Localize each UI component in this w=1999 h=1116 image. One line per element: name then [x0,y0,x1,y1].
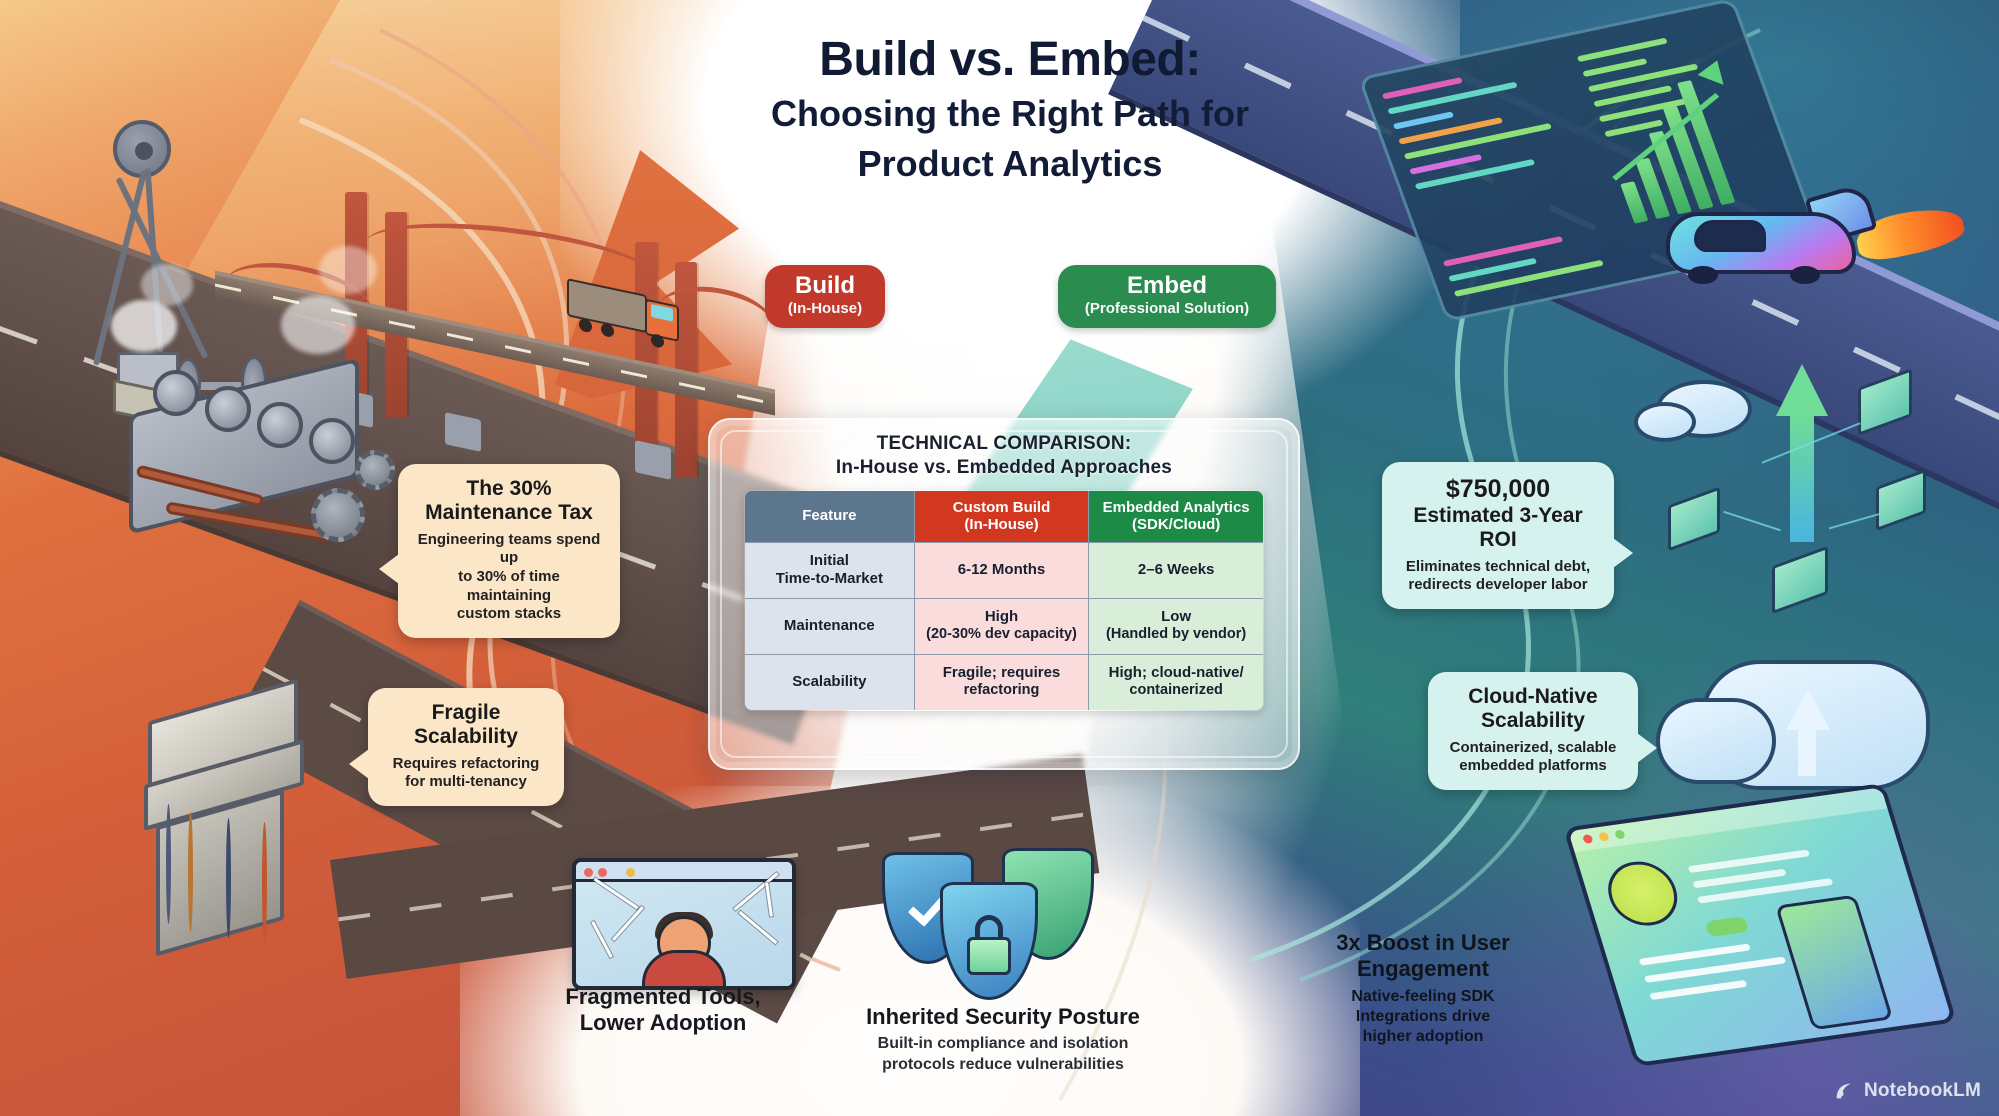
smoke-puff [319,246,377,294]
callout-maintenance-title-1: The 30% [414,477,604,501]
watermark: NotebookLM [1833,1080,1981,1102]
col-header-embedded-main: Embedded Analytics [1095,499,1257,516]
comparison-panel-title: TECHNICAL COMPARISON: In-House vs. Embed… [732,432,1276,480]
callout-cloud-body-1: Containerized, scalable [1444,739,1622,758]
security-shields-illustration [880,848,1110,998]
bridge-pier [445,412,481,452]
table-row: Scalability Fragile; requires refactorin… [745,654,1264,710]
badge-embed-label: Embed [1080,273,1254,299]
callout-roi-amount: $750,000 [1398,475,1598,504]
fragmented-title-2: Lower Adoption [528,1010,798,1036]
embed-value-sub: containerized [1095,682,1257,699]
badge-build[interactable]: Build (In-House) [765,265,885,328]
minimize-icon [598,868,607,877]
engagement-title-2: Engagement [1288,956,1558,982]
cable [188,812,193,932]
security-body-1: Built-in compliance and isolation [828,1034,1178,1054]
callout-cloud-title-2: Scalability [1444,709,1622,733]
car-wheel [1688,266,1718,284]
callout-roi-body-2: redirects developer labor [1398,576,1598,595]
trend-arrow-icon [1698,55,1731,84]
comparison-title-line-1: TECHNICAL COMPARISON: [732,432,1276,456]
callout-tail [1613,538,1633,568]
table-head: Feature Custom Build (In-House) Embedded… [745,490,1264,542]
callout-fragile-title-1: Fragile [384,701,548,725]
smoke-puff [141,264,193,306]
cloud-network-illustration [1630,370,1990,680]
cracked-server-rack-illustration [130,700,370,950]
feature-line-1: Initial [751,552,908,570]
callout-roi: $750,000 Estimated 3-Year ROI Eliminates… [1382,462,1614,609]
table-body: Initial Time-to-Market 6-12 Months 2–6 W… [745,542,1264,710]
badge-embed-sublabel: (Professional Solution) [1080,300,1254,318]
callout-cloud-body-2: embedded platforms [1444,757,1622,776]
infographic-canvas: Build vs. Embed: Choosing the Right Path… [0,0,1999,1116]
callout-fragile-title-2: Scalability [384,725,548,749]
engine-cylinder [205,386,251,432]
callout-fragile-scalability: Fragile Scalability Requires refactoring… [368,688,564,806]
build-value-sub: (20-30% dev capacity) [921,626,1083,643]
callout-fragile-body-2: for multi-tenancy [384,773,548,792]
fragmented-title-1: Fragmented Tools, [528,984,798,1010]
col-header-custom-build: Custom Build (In-House) [914,490,1089,542]
callout-maintenance-body-3: custom stacks [414,605,604,624]
callout-fragile-body-1: Requires refactoring [384,755,548,774]
arrow-stem [1790,414,1814,542]
cable [166,804,171,924]
col-header-feature: Feature [745,490,915,542]
callout-maintenance-tax: The 30% Maintenance Tax Engineering team… [398,464,620,638]
build-value-main: High [921,608,1083,626]
server-node-icon [1876,469,1926,531]
embed-value-main: High; cloud-native/ [1095,664,1257,682]
col-header-embedded-sub: (SDK/Cloud) [1095,516,1257,533]
cell-embed-maintenance: Low (Handled by vendor) [1089,598,1264,654]
cell-feature-time-to-market: Initial Time-to-Market [745,542,915,598]
smoke-puff [281,296,355,354]
embed-value-main: 2–6 Weeks [1095,561,1257,579]
cell-embed-scalability: High; cloud-native/ containerized [1089,654,1264,710]
network-link [1723,511,1781,531]
notebooklm-logo-icon [1833,1080,1855,1102]
engine-cylinder [309,418,355,464]
server-node-icon [1668,487,1720,552]
smoke-puff [111,300,177,352]
callout-roi-title-2: Estimated 3-Year ROI [1398,504,1598,553]
label-inherited-security: Inherited Security Posture Built-in comp… [828,1004,1178,1075]
cable [262,822,267,942]
callout-maintenance-title-2: Maintenance Tax [414,501,604,525]
comparison-table: Feature Custom Build (In-House) Embedded… [744,490,1264,711]
watermark-label: NotebookLM [1864,1080,1981,1102]
cell-feature-maintenance: Maintenance [745,598,915,654]
embed-value-main: Low [1095,608,1257,626]
network-link [1829,513,1881,530]
cell-feature-scalability: Scalability [745,654,915,710]
build-value-main: Fragile; requires [921,664,1083,682]
feature-line-2: Time-to-Market [751,570,908,588]
engagement-body-2: Integrations drive [1288,1007,1558,1027]
callout-cloud-native: Cloud-Native Scalability Containerized, … [1428,672,1638,790]
lock-icon [626,868,635,877]
badge-build-label: Build [787,273,863,299]
engagement-body-1: Native-feeling SDK [1288,987,1558,1007]
cell-build-scalability: Fragile; requires refactoring [914,654,1089,710]
engine-pipe [165,501,335,542]
close-icon [584,868,593,877]
cracked-screen [576,882,792,986]
cloud-up-arrow-icon [1786,690,1830,730]
up-arrow-icon [1776,364,1828,416]
bridge-pier [635,440,671,480]
fragmented-tool-window-illustration [572,858,796,990]
avatar [1600,857,1685,929]
server-node-icon [1858,368,1912,436]
badge-build-sublabel: (In-House) [787,300,863,318]
callout-cloud-title-1: Cloud-Native [1444,685,1622,709]
engine-cylinder [257,402,303,448]
title-line-2: Choosing the Right Path for [560,92,1460,136]
callout-roi-body-1: Eliminates technical debt, [1398,558,1598,577]
car-wheel [1790,266,1820,284]
security-body-2: protocols reduce vulnerabilities [828,1055,1178,1075]
car-canopy [1694,220,1766,252]
server-node-icon [1772,546,1828,614]
rocket-car-illustration [1660,178,1920,298]
col-header-custom-build-main: Custom Build [921,499,1083,516]
build-value-main: 6-12 Months [921,561,1083,579]
col-header-custom-build-sub: (In-House) [921,516,1083,533]
pulley-wheel-icon [113,120,171,178]
cell-build-maintenance: High (20-30% dev capacity) [914,598,1089,654]
gear-icon [355,450,395,490]
table-row: Maintenance High (20-30% dev capacity) L… [745,598,1264,654]
window-title-bar [576,862,792,882]
callout-tail [349,749,369,779]
security-title: Inherited Security Posture [828,1004,1178,1030]
shield-lock-icon [940,882,1038,1000]
technical-comparison-panel: TECHNICAL COMPARISON: In-House vs. Embed… [708,418,1300,770]
title-line-3: Product Analytics [560,142,1460,186]
callout-tail [1637,733,1657,763]
col-header-embedded-analytics: Embedded Analytics (SDK/Cloud) [1089,490,1264,542]
table-header-row: Feature Custom Build (In-House) Embedded… [745,490,1264,542]
label-engagement-boost: 3x Boost in User Engagement Native-feeli… [1288,930,1558,1047]
big-cloud-icon [1656,698,1776,784]
lock-body [967,937,1011,975]
callout-maintenance-body-1: Engineering teams spend up [414,531,604,568]
mobile-preview [1775,895,1893,1031]
build-value-sub: refactoring [921,682,1083,699]
cloud-icon [1634,402,1696,442]
comparison-title-line-2: In-House vs. Embedded Approaches [732,456,1276,480]
page-title: Build vs. Embed: Choosing the Right Path… [560,34,1460,186]
table-row: Initial Time-to-Market 6-12 Months 2–6 W… [745,542,1264,598]
cable [226,818,231,938]
callout-tail [379,554,399,584]
label-fragmented-tools: Fragmented Tools, Lower Adoption [528,984,798,1037]
engine-cylinder [153,370,199,416]
engagement-title-1: 3x Boost in User [1288,930,1558,956]
gear-icon [311,488,365,542]
badge-embed[interactable]: Embed (Professional Solution) [1058,265,1276,328]
title-line-1: Build vs. Embed: [560,34,1460,86]
callout-maintenance-body-2: to 30% of time maintaining [414,568,604,605]
engagement-body-3: higher adoption [1288,1027,1558,1047]
embed-value-sub: (Handled by vendor) [1095,626,1257,643]
cloud-arrow-stem [1798,728,1816,776]
cell-build-time-to-market: 6-12 Months [914,542,1089,598]
cell-embed-time-to-market: 2–6 Weeks [1089,542,1264,598]
